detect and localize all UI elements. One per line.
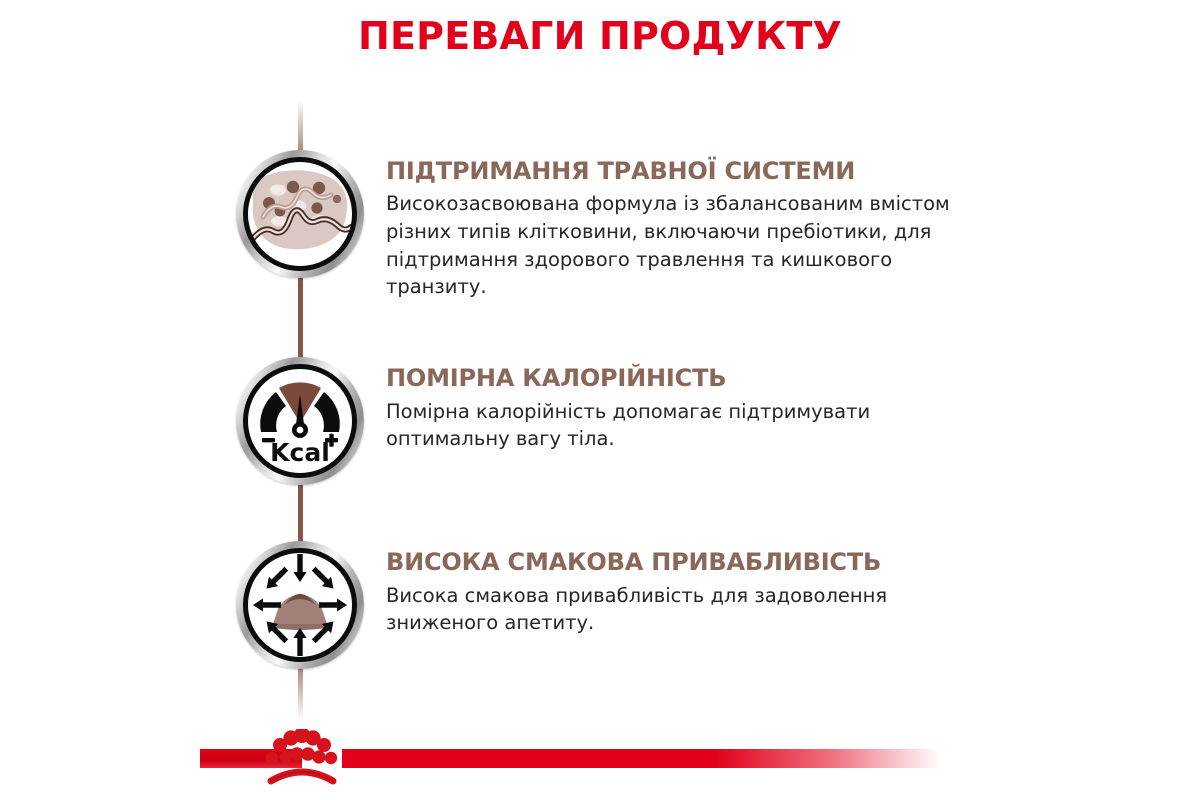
badge-face — [245, 159, 355, 269]
badge-face — [245, 550, 355, 660]
kcal-gauge-icon: Kcal — [236, 357, 364, 485]
badge-face: Kcal — [245, 366, 355, 476]
badge-metal-ring: Kcal — [236, 357, 364, 485]
badge-metal-ring — [236, 150, 364, 278]
badge-metal-ring — [236, 541, 364, 669]
feature-body-digestion: Високозасвоювана формула із збалансовани… — [386, 190, 966, 301]
brand-bar-right — [342, 749, 942, 768]
feature-row-calories: Kcal ПОМІРНА КАЛОРІЙНІСТЬ Помірна калорі… — [0, 357, 1200, 485]
feature-body-palatability: Висока смакова привабливість для задовол… — [386, 582, 966, 637]
feature-heading-calories: ПОМІРНА КАЛОРІЙНІСТЬ — [386, 365, 966, 391]
features-list: ПІДТРИМАННЯ ТРАВНОЇ СИСТЕМИ Високозасвою… — [0, 150, 1200, 669]
feature-row-palatability: ВИСОКА СМАКОВА ПРИВАБЛИВІСТЬ Висока смак… — [0, 541, 1200, 669]
feature-heading-palatability: ВИСОКА СМАКОВА ПРИВАБЛИВІСТЬ — [386, 549, 966, 575]
feature-body-calories: Помірна калорійність допомагає підтримув… — [386, 398, 966, 453]
product-benefits-page: ПЕРЕВАГИ ПРОДУКТУ — [0, 0, 1200, 800]
feature-heading-digestion: ПІДТРИМАННЯ ТРАВНОЇ СИСТЕМИ — [386, 158, 966, 184]
svg-text:Kcal: Kcal — [270, 438, 330, 467]
feature-row-digestion: ПІДТРИМАННЯ ТРАВНОЇ СИСТЕМИ Високозасвою… — [0, 150, 1200, 301]
royal-canin-crown-logo — [255, 729, 347, 791]
digestive-system-icon — [236, 150, 364, 278]
feature-text-digestion: ПІДТРИМАННЯ ТРАВНОЇ СИСТЕМИ Високозасвою… — [386, 150, 966, 301]
feature-text-calories: ПОМІРНА КАЛОРІЙНІСТЬ Помірна калорійніст… — [386, 357, 966, 453]
feature-text-palatability: ВИСОКА СМАКОВА ПРИВАБЛИВІСТЬ Висока смак… — [386, 541, 966, 637]
palatability-bowl-icon — [236, 541, 364, 669]
brand-band — [0, 745, 1200, 771]
page-title: ПЕРЕВАГИ ПРОДУКТУ — [0, 14, 1200, 58]
